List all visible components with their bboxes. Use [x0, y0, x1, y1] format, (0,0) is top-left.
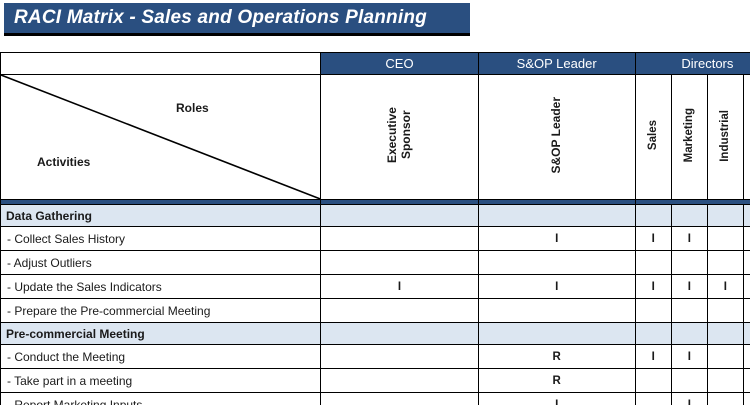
role-label-executive-sponsor: Executive Sponsor: [386, 107, 414, 163]
raci-cell-logistics: [743, 393, 750, 405]
raci-cell-executive-sponsor: [321, 323, 478, 345]
raci-cell-industrial: [707, 345, 743, 369]
role-header-executive-sponsor: Executive Sponsor: [321, 75, 478, 200]
role-label-sales: Sales: [647, 120, 660, 150]
table-row: - Prepare the Pre-commercial Meeting: [1, 299, 750, 323]
raci-cell-sales: [635, 323, 671, 345]
raci-cell-marketing: I: [671, 393, 707, 405]
role-label-sop-leader: S&OP Leader: [550, 97, 564, 173]
table-row: - Update the Sales IndicatorsIIIIII: [1, 275, 750, 299]
raci-cell-logistics: [743, 369, 750, 393]
raci-cell-executive-sponsor: [321, 393, 478, 405]
activities-axis-label: Activities: [37, 155, 90, 169]
raci-cell-executive-sponsor: [321, 251, 478, 275]
raci-cell-sales: [635, 251, 671, 275]
group-header-spacer: [1, 53, 321, 75]
raci-cell-marketing: I: [671, 345, 707, 369]
raci-cell-executive-sponsor: [321, 299, 478, 323]
section-header-row: Pre-commercial Meeting: [1, 323, 750, 345]
raci-cell-logistics: [743, 205, 750, 227]
raci-matrix-table: CEO S&OP Leader Directors Roles Activiti…: [0, 52, 750, 405]
raci-cell-executive-sponsor: [321, 345, 478, 369]
raci-cell-executive-sponsor: [321, 205, 478, 227]
raci-cell-sales: I: [635, 227, 671, 251]
raci-matrix-page: RACI Matrix - Sales and Operations Plann…: [0, 0, 750, 405]
raci-cell-s-op-leader: [478, 251, 635, 275]
raci-cell-sales: I: [635, 345, 671, 369]
raci-cell-marketing: [671, 299, 707, 323]
raci-cell-logistics: [743, 299, 750, 323]
raci-cell-industrial: [707, 369, 743, 393]
raci-cell-s-op-leader: [478, 205, 635, 227]
raci-cell-industrial: [707, 227, 743, 251]
activity-cell: - Update the Sales Indicators: [1, 275, 321, 299]
raci-cell-s-op-leader: I: [478, 275, 635, 299]
table-row: - Adjust Outliers: [1, 251, 750, 275]
roles-axis-label: Roles: [176, 101, 209, 115]
page-title-bar: RACI Matrix - Sales and Operations Plann…: [4, 3, 470, 36]
activity-cell: - Collect Sales History: [1, 227, 321, 251]
raci-cell-industrial: I: [707, 275, 743, 299]
raci-cell-s-op-leader: [478, 323, 635, 345]
raci-cell-executive-sponsor: [321, 227, 478, 251]
section-title-cell: Data Gathering: [1, 205, 321, 227]
raci-cell-logistics: [743, 323, 750, 345]
raci-cell-s-op-leader: R: [478, 369, 635, 393]
raci-cell-s-op-leader: I: [478, 393, 635, 405]
role-header-row: Roles Activities Executive Sponsor S&OP …: [1, 75, 750, 200]
raci-cell-sales: [635, 393, 671, 405]
raci-cell-marketing: [671, 251, 707, 275]
page-title: RACI Matrix - Sales and Operations Plann…: [14, 7, 427, 29]
role-header-logistics: Logistics: [743, 75, 750, 200]
section-header-row: Data Gathering: [1, 205, 750, 227]
raci-cell-industrial: [707, 251, 743, 275]
raci-cell-marketing: [671, 205, 707, 227]
raci-cell-executive-sponsor: [321, 369, 478, 393]
raci-cell-marketing: I: [671, 275, 707, 299]
raci-cell-sales: I: [635, 275, 671, 299]
raci-cell-sales: [635, 369, 671, 393]
raci-cell-marketing: [671, 369, 707, 393]
group-header-row: CEO S&OP Leader Directors: [1, 53, 750, 75]
group-header-ceo: CEO: [321, 53, 478, 75]
group-header-sop-leader: S&OP Leader: [478, 53, 635, 75]
role-label-marketing: Marketing: [683, 108, 696, 162]
matrix-body: Data Gathering- Collect Sales HistoryIII…: [1, 205, 750, 405]
activity-cell: - Conduct the Meeting: [1, 345, 321, 369]
table-row: - Take part in a meetingR: [1, 369, 750, 393]
raci-cell-industrial: [707, 205, 743, 227]
raci-cell-industrial: [707, 323, 743, 345]
raci-cell-s-op-leader: R: [478, 345, 635, 369]
role-label-industrial: Industrial: [719, 110, 732, 162]
table-row: - Conduct the MeetingRII: [1, 345, 750, 369]
raci-cell-s-op-leader: [478, 299, 635, 323]
raci-cell-marketing: I: [671, 227, 707, 251]
table-row: - Collect Sales HistoryIII: [1, 227, 750, 251]
raci-cell-logistics: I: [743, 275, 750, 299]
activity-cell: - Prepare the Pre-commercial Meeting: [1, 299, 321, 323]
raci-cell-industrial: [707, 299, 743, 323]
raci-cell-industrial: [707, 393, 743, 405]
raci-cell-logistics: [743, 251, 750, 275]
raci-cell-logistics: [743, 227, 750, 251]
raci-cell-logistics: [743, 345, 750, 369]
table-row: - Report Marketing InputsII: [1, 393, 750, 405]
diagonal-divider-icon: [1, 75, 320, 199]
section-title-cell: Pre-commercial Meeting: [1, 323, 321, 345]
activity-cell: - Report Marketing Inputs: [1, 393, 321, 405]
group-header-directors: Directors: [635, 53, 750, 75]
role-header-sop-leader: S&OP Leader: [478, 75, 635, 200]
role-header-industrial: Industrial: [707, 75, 743, 200]
raci-cell-sales: [635, 205, 671, 227]
corner-diagonal-cell: Roles Activities: [1, 75, 321, 200]
activity-cell: - Take part in a meeting: [1, 369, 321, 393]
activity-cell: - Adjust Outliers: [1, 251, 321, 275]
raci-cell-marketing: [671, 323, 707, 345]
role-header-sales: Sales: [635, 75, 671, 200]
raci-cell-sales: [635, 299, 671, 323]
role-header-marketing: Marketing: [671, 75, 707, 200]
raci-cell-executive-sponsor: I: [321, 275, 478, 299]
raci-cell-s-op-leader: I: [478, 227, 635, 251]
